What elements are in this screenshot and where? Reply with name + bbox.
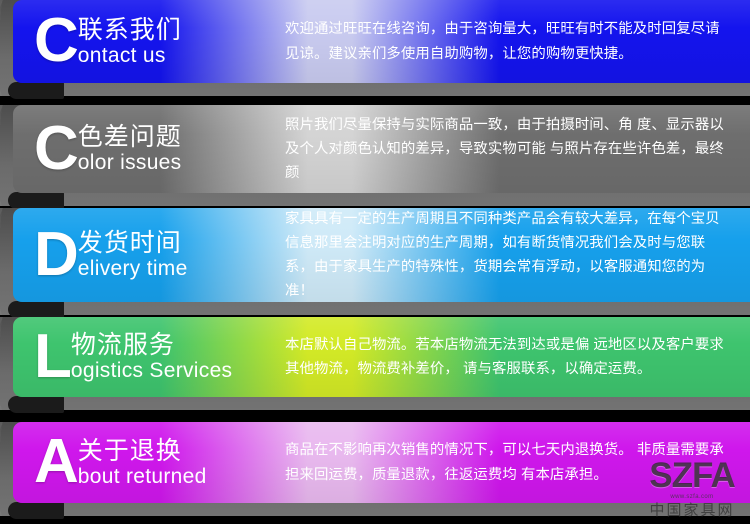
drop-cap-letter: D <box>34 230 77 281</box>
drop-cap-letter: A <box>34 437 77 488</box>
panel-inner: L物流服务ogistics Services本店默认自己物流。若本店物流无法到达… <box>13 317 750 397</box>
panel-inner: D发货时间elivery time家具具有一定的生产周期且不同种类产品会有较大差… <box>13 208 750 302</box>
section-logistics-services: L物流服务ogistics Services本店默认自己物流。若本店物流无法到达… <box>0 317 750 410</box>
fold-tab-icon <box>8 502 64 519</box>
section-contact-us: C联系我们ontact us欢迎通过旺旺在线咨询，由于咨询量大，旺旺有时不能及时… <box>0 0 750 96</box>
title-block-about-returned: A关于退换bout returned <box>13 437 285 488</box>
fold-tab-icon <box>8 192 64 209</box>
body-text-color-issues: 照片我们尽量保持与实际商品一致，由于拍摄时间、角 度、显示器以及个人对颜色认知的… <box>285 113 750 186</box>
body-paragraph: 欢迎通过旺旺在线咨询，由于咨询量大，旺旺有时不能及时回复尽请见谅。建议亲们多使用… <box>285 17 734 65</box>
panel-about-returned: A关于退换bout returned商品在不影响再次销售的情况下，可以七天内退换… <box>13 422 750 503</box>
section-about-returned: A关于退换bout returned商品在不影响再次销售的情况下，可以七天内退换… <box>0 422 750 516</box>
title-stack: 色差问题olor issues <box>78 123 182 174</box>
panel-inner: A关于退换bout returned商品在不影响再次销售的情况下，可以七天内退换… <box>13 422 750 503</box>
title-block-contact-us: C联系我们ontact us <box>13 16 285 67</box>
drop-cap-letter: C <box>34 16 77 67</box>
title-english: ontact us <box>78 45 182 67</box>
title-english: olor issues <box>78 152 182 174</box>
panel-inner: C联系我们ontact us欢迎通过旺旺在线咨询，由于咨询量大，旺旺有时不能及时… <box>13 0 750 83</box>
title-chinese: 发货时间 <box>78 229 188 257</box>
fold-tab-icon <box>8 82 64 99</box>
fold-tab-icon <box>8 396 64 413</box>
title-english: elivery time <box>78 258 188 280</box>
title-block-logistics-services: L物流服务ogistics Services <box>13 331 285 382</box>
body-paragraph: 本店默认自己物流。若本店物流无法到达或是偏 远地区以及客户要求其他物流，物流费补… <box>285 333 734 381</box>
drop-cap-letter: C <box>34 124 77 175</box>
title-block-color-issues: C色差问题olor issues <box>13 123 285 174</box>
panel-logistics-services: L物流服务ogistics Services本店默认自己物流。若本店物流无法到达… <box>13 317 750 397</box>
title-block-delivery-time: D发货时间elivery time <box>13 229 285 280</box>
panel-delivery-time: D发货时间elivery time家具具有一定的生产周期且不同种类产品会有较大差… <box>13 208 750 302</box>
body-text-contact-us: 欢迎通过旺旺在线咨询，由于咨询量大，旺旺有时不能及时回复尽请见谅。建议亲们多使用… <box>285 17 750 65</box>
title-english: ogistics Services <box>71 360 232 382</box>
body-text-logistics-services: 本店默认自己物流。若本店物流无法到达或是偏 远地区以及客户要求其他物流，物流费补… <box>285 333 750 381</box>
fold-tab-icon <box>8 301 64 318</box>
drop-cap-letter: L <box>34 332 70 383</box>
body-text-about-returned: 商品在不影响再次销售的情况下，可以七天内退换货。 非质量需要承担来回运费，质量退… <box>285 438 750 486</box>
body-paragraph: 商品在不影响再次销售的情况下，可以七天内退换货。 非质量需要承担来回运费，质量退… <box>285 438 734 486</box>
title-chinese: 色差问题 <box>78 123 182 151</box>
panel-inner: C色差问题olor issues照片我们尽量保持与实际商品一致，由于拍摄时间、角… <box>13 105 750 193</box>
infographic-page: C联系我们ontact us欢迎通过旺旺在线咨询，由于咨询量大，旺旺有时不能及时… <box>0 0 750 524</box>
body-text-delivery-time: 家具具有一定的生产周期且不同种类产品会有较大差异，在每个宝贝信息那里会注明对应的… <box>285 208 750 302</box>
title-chinese: 物流服务 <box>71 331 232 359</box>
title-stack: 物流服务ogistics Services <box>71 331 232 382</box>
section-delivery-time: D发货时间elivery time家具具有一定的生产周期且不同种类产品会有较大差… <box>0 208 750 315</box>
title-chinese: 关于退换 <box>78 437 207 465</box>
section-color-issues: C色差问题olor issues照片我们尽量保持与实际商品一致，由于拍摄时间、角… <box>0 105 750 206</box>
body-paragraph: 照片我们尽量保持与实际商品一致，由于拍摄时间、角 度、显示器以及个人对颜色认知的… <box>285 113 734 186</box>
panel-color-issues: C色差问题olor issues照片我们尽量保持与实际商品一致，由于拍摄时间、角… <box>13 105 750 193</box>
title-english: bout returned <box>78 466 207 488</box>
panel-contact-us: C联系我们ontact us欢迎通过旺旺在线咨询，由于咨询量大，旺旺有时不能及时… <box>13 0 750 83</box>
body-paragraph: 家具具有一定的生产周期且不同种类产品会有较大差异，在每个宝贝信息那里会注明对应的… <box>285 208 734 302</box>
title-chinese: 联系我们 <box>78 16 182 44</box>
title-stack: 联系我们ontact us <box>78 16 182 67</box>
title-stack: 发货时间elivery time <box>78 229 188 280</box>
title-stack: 关于退换bout returned <box>78 437 207 488</box>
